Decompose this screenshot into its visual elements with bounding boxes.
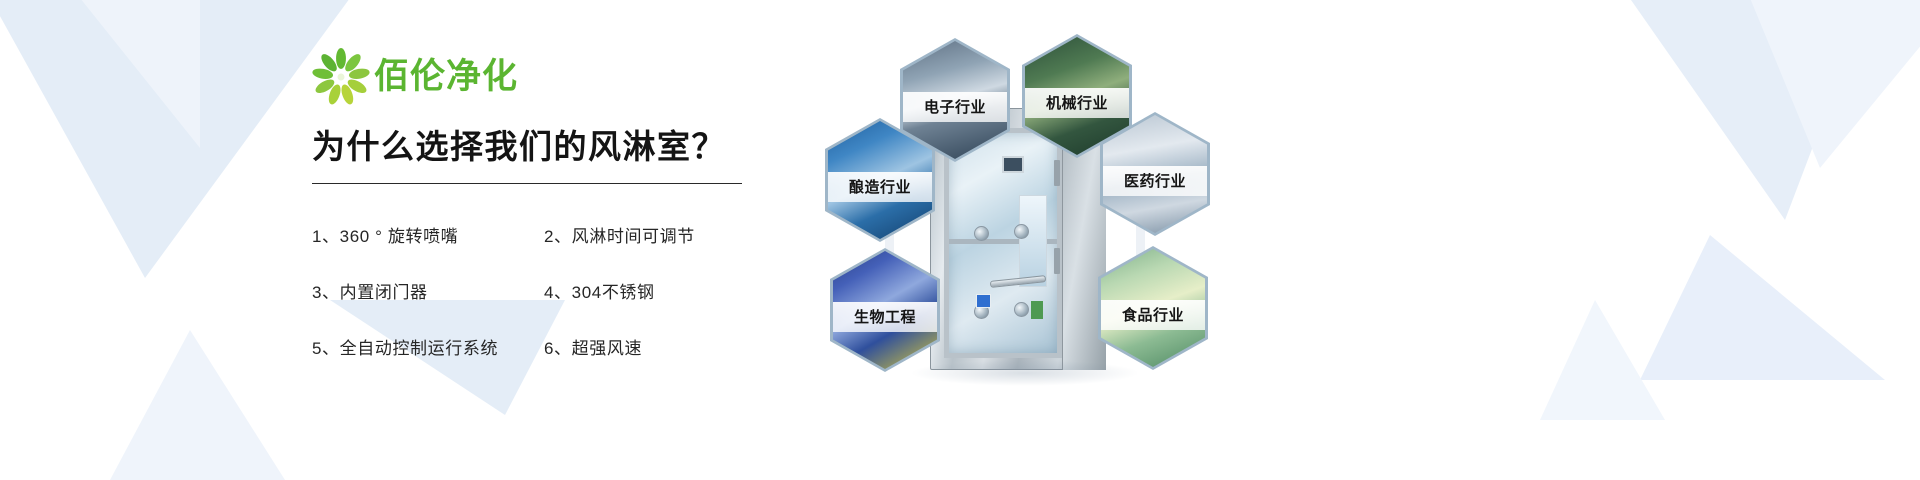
hexagon-label-band: 食品行业 <box>1101 300 1205 330</box>
hexagon-label-band: 医药行业 <box>1103 166 1207 196</box>
hexagon-inner: 食品行业 <box>1101 249 1205 367</box>
feature-item-5: 5、全自动控制运行系统 <box>312 334 544 359</box>
industry-label-bioengineering: 生物工程 <box>854 306 916 327</box>
feature-item-2: 2、风淋时间可调节 <box>544 222 742 247</box>
cabinet-hinge-top <box>1054 160 1060 186</box>
industry-label-machinery: 机械行业 <box>1046 92 1108 113</box>
hexagon-inner: 酿造行业 <box>828 121 932 239</box>
feature-list: 1、360 ° 旋转喷嘴 2、风淋时间可调节 3、内置闭门器 4、304不锈钢 … <box>312 206 742 374</box>
cabinet-interior-window <box>1019 195 1047 287</box>
background-triangle-bottom-right-2 <box>1540 300 1665 420</box>
hexagon-label-band: 生物工程 <box>833 302 937 332</box>
air-nozzle-icon <box>974 226 989 241</box>
cabinet-hinge-bottom <box>1054 248 1060 274</box>
promo-banner: 佰伦净化 为什么选择我们的风淋室？ 1、360 ° 旋转喷嘴 2、风淋时间可调节… <box>0 0 1920 480</box>
cabinet-interior-green-object <box>1031 301 1043 319</box>
cabinet-sticker <box>976 294 991 308</box>
air-nozzle-icon <box>1014 224 1029 239</box>
cabinet-display-screen <box>1002 156 1024 173</box>
hexagon-inner: 医药行业 <box>1103 115 1207 233</box>
title-divider <box>312 183 742 184</box>
green-flower-logo-icon <box>312 48 370 106</box>
page-title: 为什么选择我们的风淋室？ <box>312 120 742 168</box>
air-nozzle-icon <box>1014 302 1029 317</box>
industry-label-electronics: 电子行业 <box>924 96 986 117</box>
industry-graphic: 电子行业 机械行业 酿造行业 <box>790 0 1260 480</box>
background-triangle-top-left-2 <box>80 0 200 148</box>
feature-row: 1、360 ° 旋转喷嘴 2、风淋时间可调节 <box>312 206 742 262</box>
brand-lockup: 佰伦净化 <box>312 46 742 108</box>
hexagon-label-band: 酿造行业 <box>828 172 932 202</box>
brand-name: 佰伦净化 <box>374 48 518 106</box>
feature-item-6: 6、超强风速 <box>544 334 742 359</box>
feature-row: 3、内置闭门器 4、304不锈钢 <box>312 262 742 318</box>
hexagon-label-band: 电子行业 <box>903 92 1007 122</box>
industry-label-food: 食品行业 <box>1122 304 1184 325</box>
feature-row: 5、全自动控制运行系统 6、超强风速 <box>312 318 742 374</box>
industry-label-brewing: 酿造行业 <box>849 176 911 197</box>
industry-label-pharmaceutical: 医药行业 <box>1124 170 1186 191</box>
background-triangle-bottom-right <box>1640 235 1885 380</box>
feature-item-3: 3、内置闭门器 <box>312 278 544 303</box>
feature-item-4: 4、304不锈钢 <box>544 278 742 303</box>
text-panel: 佰伦净化 为什么选择我们的风淋室？ 1、360 ° 旋转喷嘴 2、风淋时间可调节… <box>312 46 742 374</box>
cabinet-shadow <box>910 360 1140 386</box>
hexagon-label-band: 机械行业 <box>1025 88 1129 118</box>
hexagon-inner: 生物工程 <box>833 251 937 369</box>
background-triangle-bottom-left <box>110 330 285 480</box>
background-triangle-top-right-2 <box>1750 0 1920 168</box>
feature-item-1: 1、360 ° 旋转喷嘴 <box>312 222 544 247</box>
